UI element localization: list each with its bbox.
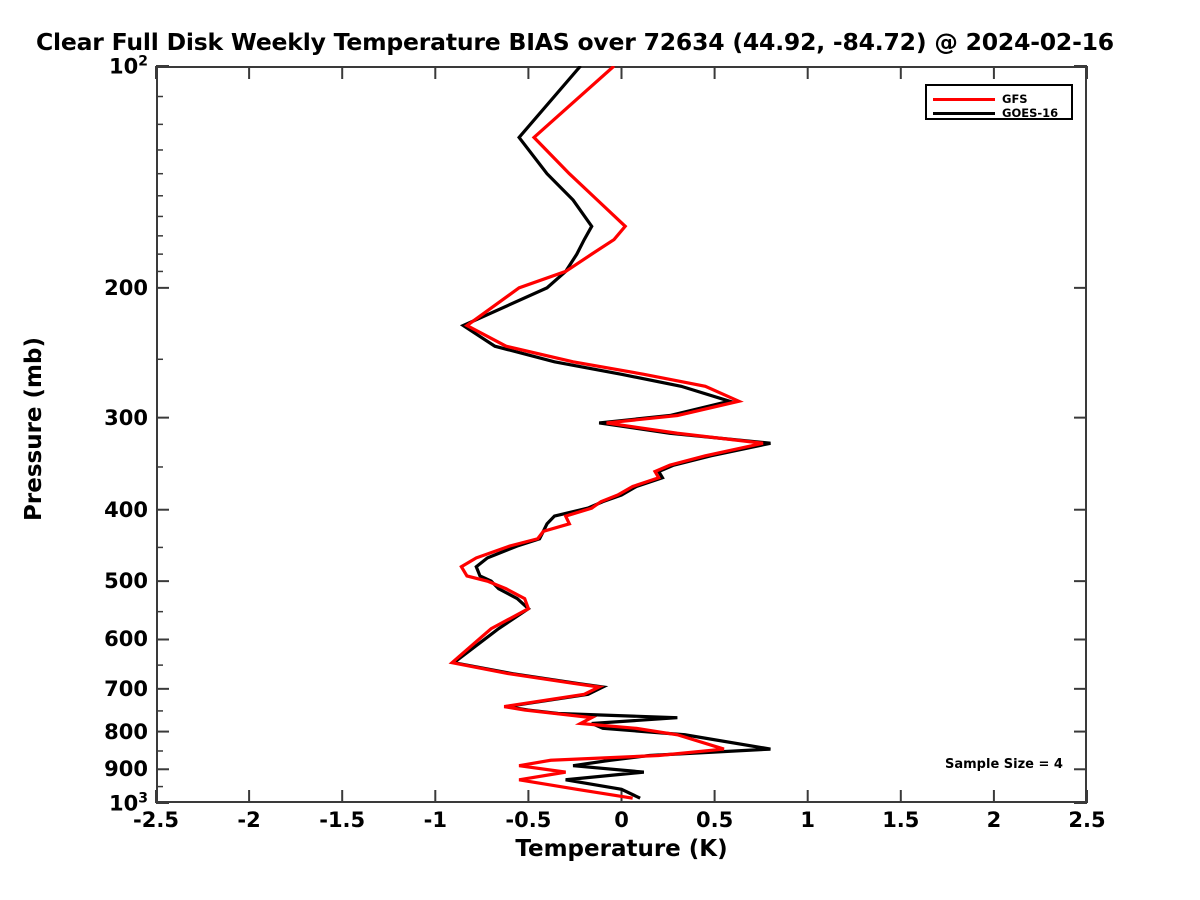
legend-entry-gfs[interactable]: GFS [933, 92, 1028, 106]
x-tick-label: 0 [614, 808, 629, 832]
legend-swatch-gfs [933, 98, 995, 101]
x-tick-label: 2.5 [1068, 808, 1105, 832]
chart-page: Clear Full Disk Weekly Temperature BIAS … [0, 0, 1200, 900]
y-tick-label: 700 [104, 677, 148, 701]
x-tick-label: 0.5 [696, 808, 733, 832]
x-tick-label: 2 [987, 808, 1002, 832]
y-tick-label: 600 [104, 627, 148, 651]
legend-entry-goes-16[interactable]: GOES-16 [933, 106, 1058, 120]
x-axis-title: Temperature (K) [156, 836, 1087, 862]
y-tick-label: 500 [104, 569, 148, 593]
y-axis-title: Pressure (mb) [21, 329, 47, 529]
legend-swatch-goes-16 [933, 112, 995, 115]
page-title: Clear Full Disk Weekly Temperature BIAS … [36, 28, 1114, 56]
x-tick-label: -2.5 [133, 808, 179, 832]
legend-label: GFS [1002, 92, 1028, 106]
x-tick-label: -0.5 [505, 808, 551, 832]
x-tick-label: -1 [424, 808, 447, 832]
sample-size-annotation: Sample Size = 4 [945, 757, 1063, 772]
y-tick-label: 400 [104, 498, 148, 522]
plot-area [156, 66, 1087, 803]
y-tick-label: 102 [109, 54, 148, 79]
y-tick-label: 900 [104, 757, 148, 781]
y-tick-label: 800 [104, 720, 148, 744]
legend-label: GOES-16 [1002, 106, 1058, 120]
legend: GFSGOES-16 [925, 84, 1073, 120]
x-tick-label: -2 [237, 808, 260, 832]
x-tick-label: 1 [800, 808, 815, 832]
x-tick-label: 1.5 [882, 808, 919, 832]
y-axis-tick-labels: 102200300400500600700800900103 [40, 0, 148, 900]
x-tick-label: -1.5 [319, 808, 365, 832]
y-tick-label: 200 [104, 276, 148, 300]
y-tick-label: 300 [104, 406, 148, 430]
